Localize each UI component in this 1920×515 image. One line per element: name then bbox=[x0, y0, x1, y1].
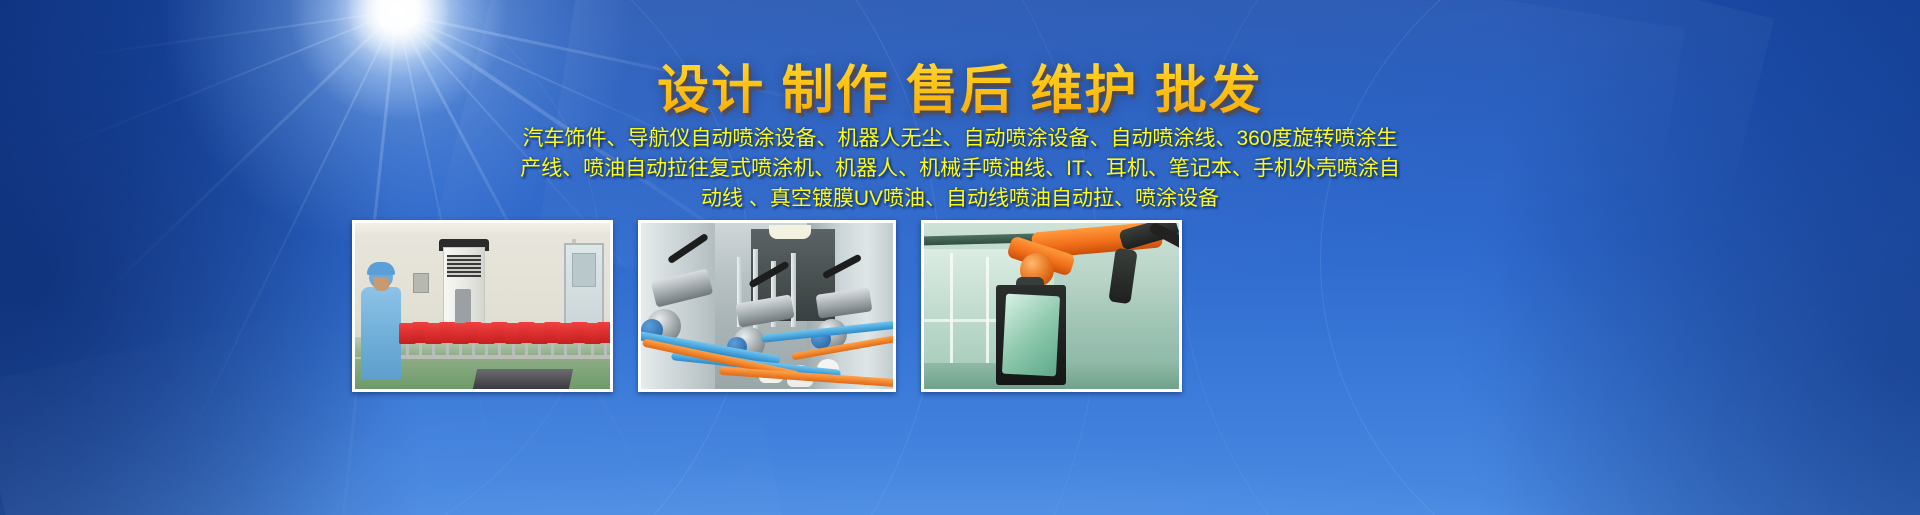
air-conditioner-vent bbox=[447, 255, 481, 277]
photo-scene bbox=[355, 223, 610, 389]
worker-uniform bbox=[361, 287, 401, 380]
photo-spray-gun-equipment[interactable] bbox=[638, 220, 896, 392]
parts-tray bbox=[473, 369, 573, 389]
photo-cleanroom-coating-line[interactable] bbox=[352, 220, 613, 392]
workpiece-decor bbox=[1002, 294, 1060, 377]
air-conditioner-panel bbox=[455, 289, 471, 323]
banner-description: 汽车饰件、导航仪自动喷涂设备、机器人无尘、自动喷涂设备、自动喷涂线、360度旋转… bbox=[360, 124, 1560, 214]
booth-lamp bbox=[769, 225, 811, 239]
fixture-stem bbox=[419, 341, 422, 359]
photo-scene bbox=[641, 223, 893, 389]
fixture-stem bbox=[551, 341, 554, 359]
control-box bbox=[413, 273, 429, 293]
banner-content: 设计 制作 售后 维护 批发 汽车饰件、导航仪自动喷涂设备、机器人无尘、自动喷涂… bbox=[0, 0, 1920, 515]
factory-worker bbox=[361, 265, 401, 380]
fixture-stem bbox=[604, 341, 607, 359]
fixture-stem bbox=[498, 341, 501, 359]
promo-banner: 设计 制作 售后 维护 批发 汽车饰件、导航仪自动喷涂设备、机器人无尘、自动喷涂… bbox=[0, 0, 1920, 515]
photo-robot-spray-arm[interactable] bbox=[921, 220, 1182, 392]
photo-gallery bbox=[352, 220, 1548, 392]
steel-panel-left bbox=[641, 223, 715, 392]
fixture-stem bbox=[472, 341, 475, 359]
worker-face bbox=[374, 277, 389, 291]
fixture-stem bbox=[525, 341, 528, 359]
worker-cap bbox=[367, 262, 395, 275]
fixture-stem bbox=[578, 341, 581, 359]
red-fixture bbox=[597, 322, 613, 343]
description-line-3: 动线 、真空镀膜UV喷油、自动线喷油自动拉、喷涂设备 bbox=[360, 184, 1560, 214]
description-line-1: 汽车饰件、导航仪自动喷涂设备、机器人无尘、自动喷涂设备、自动喷涂线、360度旋转… bbox=[360, 124, 1560, 154]
cleanroom-ceiling bbox=[355, 223, 610, 237]
door-window bbox=[572, 253, 596, 287]
photo-scene bbox=[924, 223, 1179, 389]
banner-headline: 设计 制作 售后 维护 批发 bbox=[0, 48, 1920, 123]
description-line-2: 产线、喷油自动拉往复式喷涂机、机器人、机械手喷油线、IT、耳机、笔记本、手机外壳… bbox=[360, 154, 1560, 184]
fixture-stem bbox=[446, 341, 449, 359]
